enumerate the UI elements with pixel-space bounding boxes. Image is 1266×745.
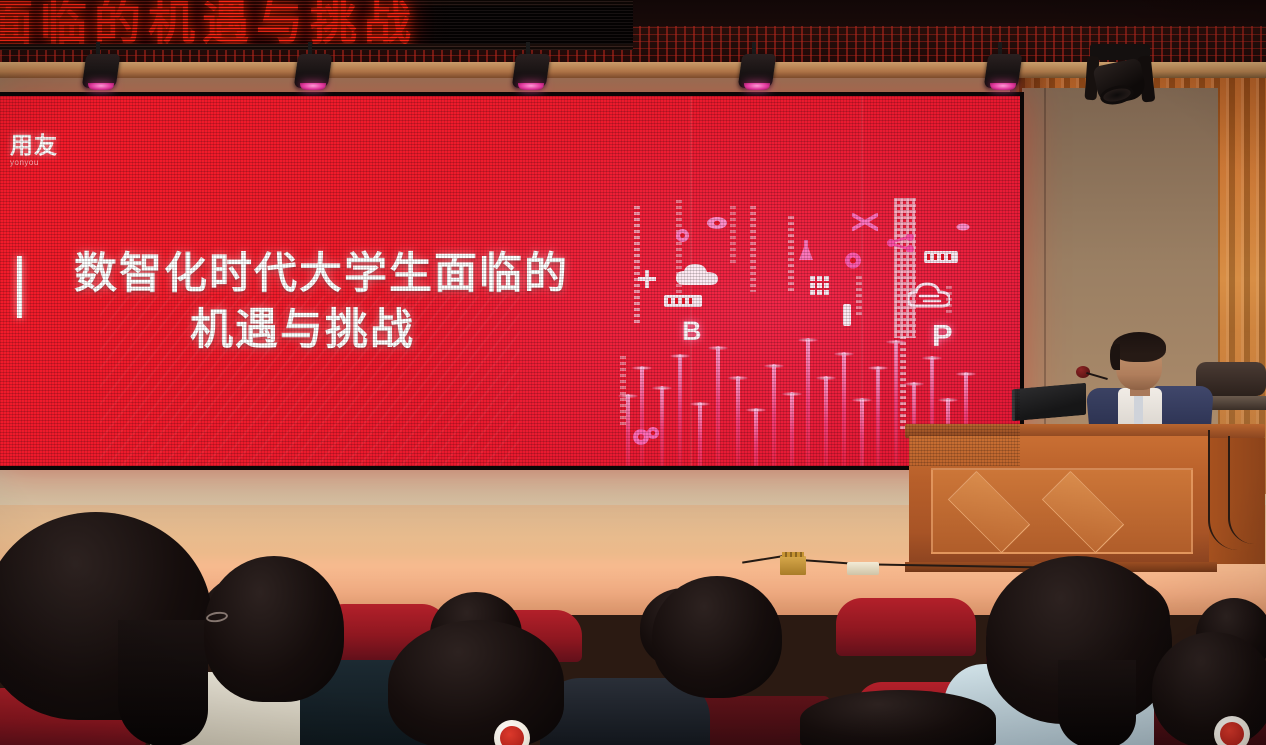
pillar-bar bbox=[806, 338, 810, 466]
dot-icon bbox=[956, 218, 970, 226]
speaker-hair-side bbox=[1110, 344, 1120, 370]
pillar-bar bbox=[894, 340, 898, 466]
pillar-bar bbox=[660, 386, 664, 466]
glyph-letter-p: P bbox=[932, 318, 953, 354]
audience-seat bbox=[836, 598, 976, 656]
grid-icon bbox=[810, 276, 834, 300]
laptop bbox=[1012, 386, 1090, 420]
dot-grid-column bbox=[894, 198, 916, 338]
power-cable bbox=[1228, 436, 1254, 544]
pillar-bar bbox=[772, 364, 776, 466]
diamond-motif-left bbox=[948, 471, 1030, 553]
laptop-screen bbox=[1012, 383, 1086, 421]
led-banner-text: 面临的机遇与挑战 bbox=[0, 0, 418, 50]
spotlight-3 bbox=[514, 50, 548, 94]
gear-icon bbox=[844, 252, 862, 269]
pillar-bar bbox=[716, 346, 720, 466]
yonyou-logo: 用友 yonyou bbox=[10, 134, 58, 167]
tie bbox=[1134, 396, 1143, 426]
share-icon bbox=[886, 234, 916, 252]
logo-chinese-text: 用友 bbox=[10, 134, 58, 157]
pillar-bar bbox=[860, 398, 864, 466]
audience-head-foreground bbox=[652, 576, 782, 698]
spotlight-5 bbox=[986, 50, 1020, 94]
dot-column bbox=[750, 206, 756, 292]
gear-icon bbox=[706, 216, 728, 230]
spotlight-4 bbox=[740, 50, 774, 94]
pillar-bar bbox=[842, 352, 846, 466]
spotlight-2 bbox=[296, 50, 330, 94]
seat-number-badge bbox=[1214, 716, 1250, 745]
audience-head-foreground bbox=[800, 690, 996, 745]
logo-english-text: yonyou bbox=[10, 158, 58, 167]
pillar-bar bbox=[754, 408, 758, 466]
audience-ponytail bbox=[1058, 660, 1136, 745]
white-signal-box bbox=[847, 562, 879, 575]
slide-title-line-1: 数智化时代大学生面临的 bbox=[74, 246, 714, 302]
dot-column bbox=[788, 216, 794, 294]
slide-title-line-2: 机遇与挑战 bbox=[74, 302, 531, 358]
led-presentation-screen: 用友 yonyou bbox=[0, 96, 1020, 466]
spotlight-1 bbox=[84, 50, 118, 94]
pillar-bar bbox=[790, 392, 794, 466]
pillar-bar bbox=[876, 366, 880, 466]
pillar-bar bbox=[736, 376, 740, 466]
pillar-bar bbox=[678, 354, 682, 466]
pillar-bar bbox=[824, 376, 828, 466]
audience-head-foreground bbox=[204, 556, 344, 702]
audience-head-foreground bbox=[388, 620, 564, 745]
desk-inset-panel bbox=[931, 468, 1193, 554]
led-marquee-banner: 面临的机遇与挑战 bbox=[0, 0, 633, 50]
gear-icon bbox=[674, 228, 691, 243]
moving-head-light bbox=[1084, 44, 1156, 112]
flask-icon bbox=[798, 240, 814, 262]
dot-column bbox=[730, 206, 736, 264]
bar-icon bbox=[924, 250, 958, 262]
pillar-bar bbox=[626, 394, 630, 466]
speaker-hair bbox=[1112, 332, 1166, 362]
pillar-bar bbox=[640, 366, 644, 466]
truss-beam bbox=[0, 62, 1266, 78]
cloud-lines-icon bbox=[908, 282, 950, 308]
gear-icon bbox=[632, 426, 660, 446]
title-accent-bar bbox=[17, 256, 22, 318]
desk-front-panel bbox=[909, 436, 1209, 564]
presentation-hall-photo: 面临的机遇与挑战 用友 yonyou bbox=[0, 0, 1266, 745]
gold-transformer-box bbox=[780, 556, 806, 575]
pillar-bar bbox=[698, 402, 702, 466]
slide-title: 数智化时代大学生面临的 机遇与挑战 bbox=[74, 246, 714, 358]
diamond-motif-right bbox=[1042, 471, 1124, 553]
bar-icon bbox=[841, 304, 853, 326]
dot-column bbox=[856, 276, 862, 316]
shuffle-icon bbox=[852, 212, 878, 232]
audience-hair bbox=[118, 620, 208, 745]
